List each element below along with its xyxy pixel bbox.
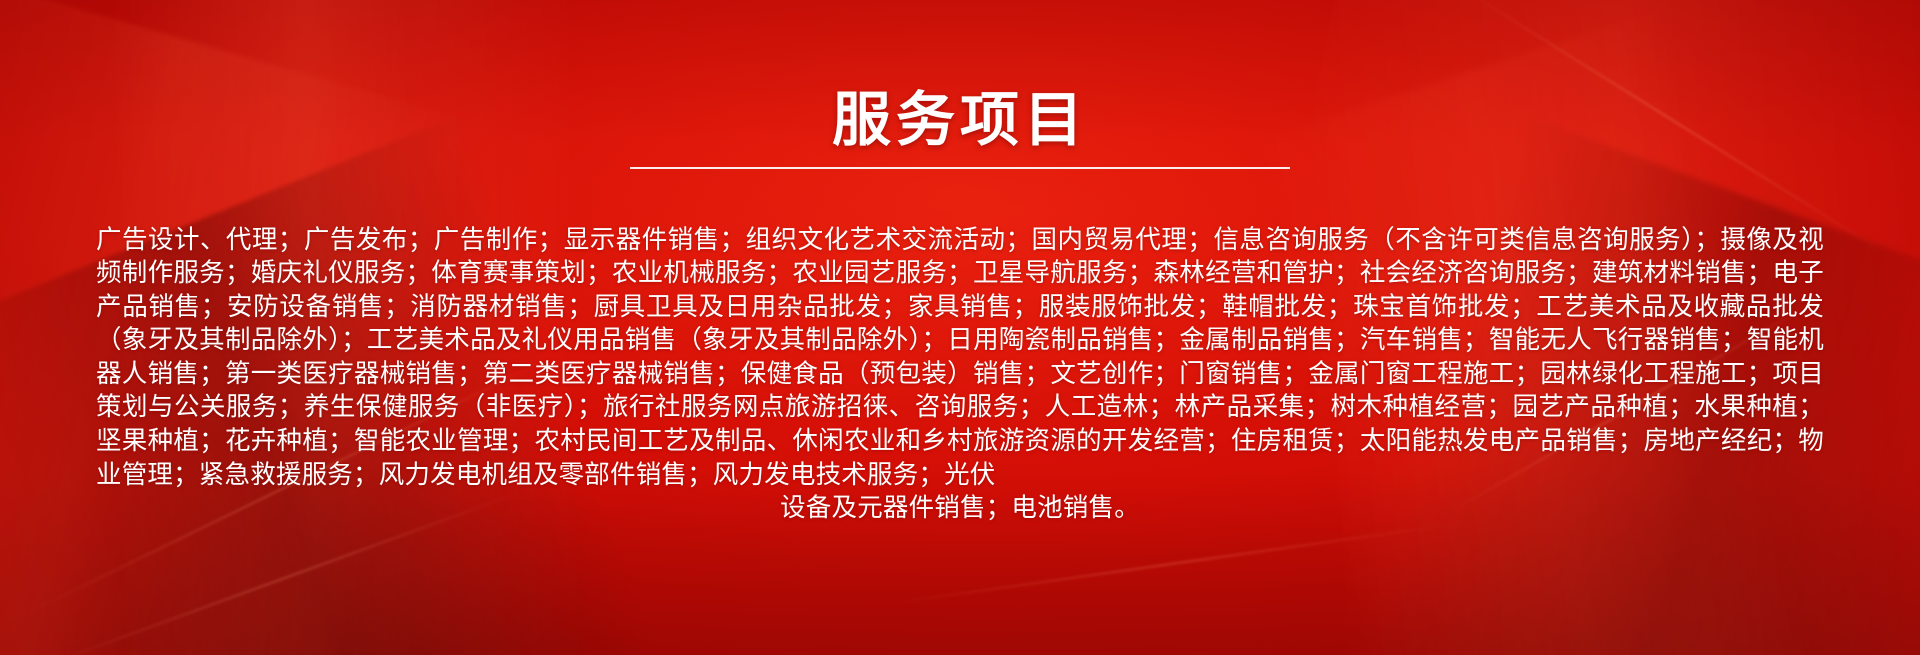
- service-scope-text-tail: 设备及元器件销售；电池销售。: [96, 492, 1824, 526]
- service-scope-paragraph: 广告设计、代理；广告发布；广告制作；显示器件销售；组织文化艺术交流活动；国内贸易…: [96, 224, 1824, 526]
- service-scope-text: 广告设计、代理；广告发布；广告制作；显示器件销售；组织文化艺术交流活动；国内贸易…: [96, 225, 1824, 490]
- title-divider-wrapper: [0, 167, 1920, 169]
- page-title: 服务项目: [0, 89, 1920, 151]
- title-divider: [630, 167, 1290, 169]
- banner-content: 服务项目 广告设计、代理；广告发布；广告制作；显示器件销售；组织文化艺术交流活动…: [0, 0, 1920, 655]
- service-items-banner: 服务项目 广告设计、代理；广告发布；广告制作；显示器件销售；组织文化艺术交流活动…: [0, 0, 1920, 655]
